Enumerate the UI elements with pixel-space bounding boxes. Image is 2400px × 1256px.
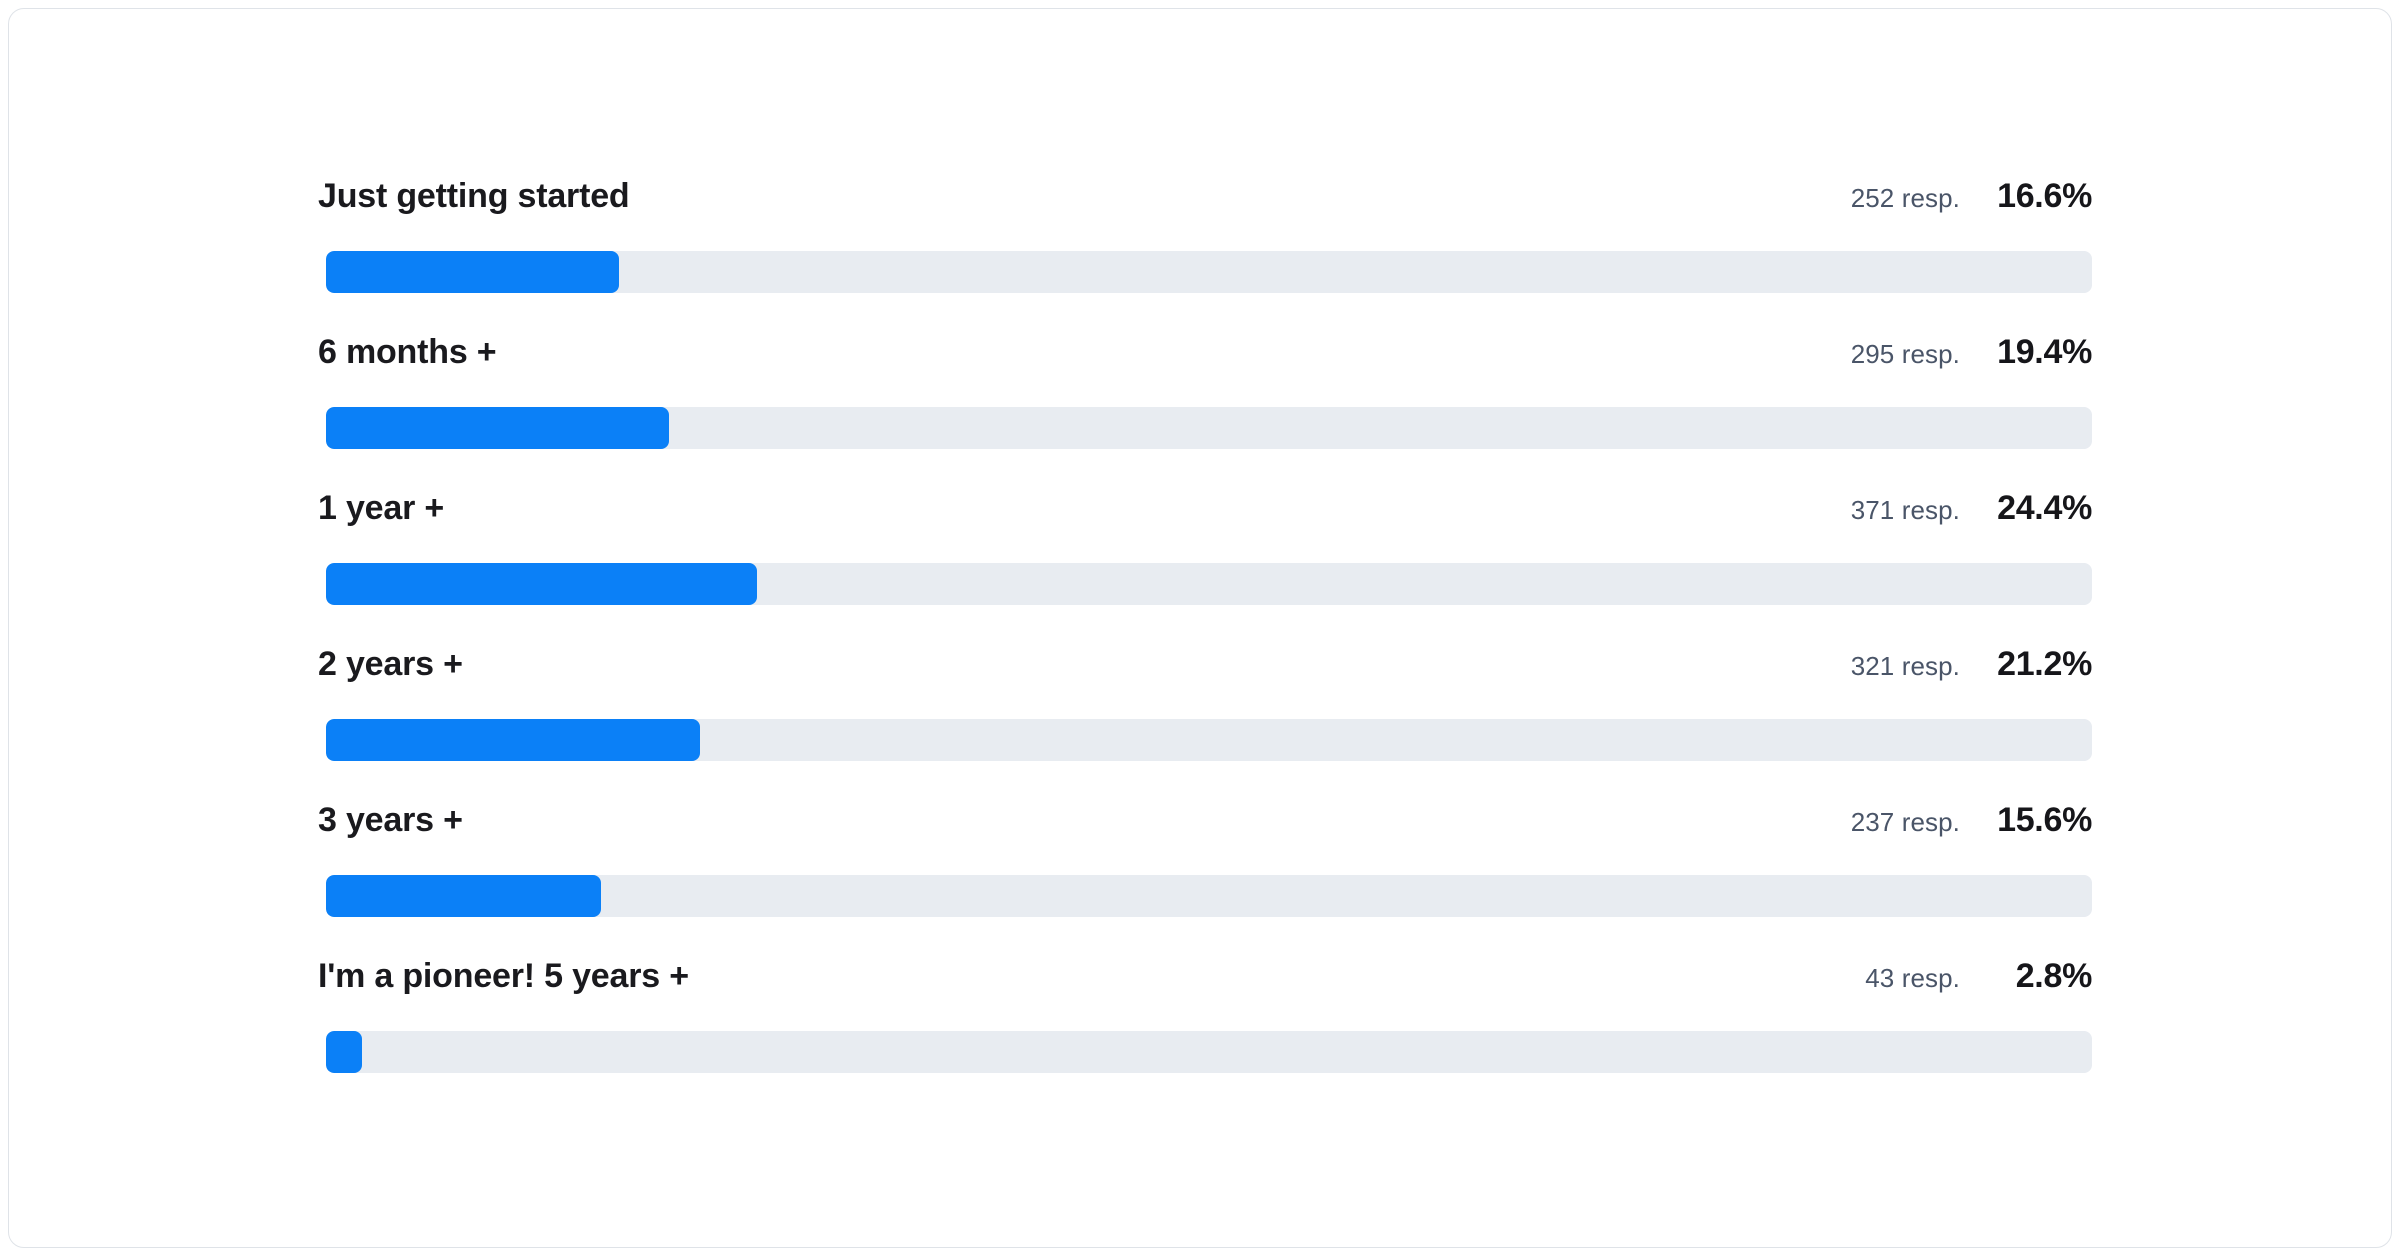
row-response-count: 321 resp.: [1851, 651, 1960, 682]
row-label: 3 years +: [318, 801, 463, 840]
row-label: 6 months +: [318, 333, 496, 372]
chart-row: 3 years + 237 resp. 15.6%: [318, 801, 2092, 957]
row-response-count: 371 resp.: [1851, 495, 1960, 526]
row-header: 6 months + 295 resp. 19.4%: [318, 333, 2092, 379]
bar-fill: [326, 563, 757, 605]
bar-fill: [326, 407, 669, 449]
row-response-count: 237 resp.: [1851, 807, 1960, 838]
row-label: I'm a pioneer! 5 years +: [318, 957, 689, 996]
row-response-count: 43 resp.: [1865, 963, 1960, 994]
bar-track: [326, 1031, 2092, 1073]
row-percentage: 15.6%: [1960, 801, 2092, 840]
row-response-count: 252 resp.: [1851, 183, 1960, 214]
bar-track: [326, 563, 2092, 605]
row-percentage: 2.8%: [1960, 957, 2092, 996]
bar-track: [326, 407, 2092, 449]
bar-fill: [326, 1031, 362, 1073]
row-header: I'm a pioneer! 5 years + 43 resp. 2.8%: [318, 957, 2092, 1003]
row-label: 2 years +: [318, 645, 463, 684]
row-header: 1 year + 371 resp. 24.4%: [318, 489, 2092, 535]
row-stats: 295 resp. 19.4%: [1851, 333, 2092, 372]
bar-track: [326, 875, 2092, 917]
row-label: Just getting started: [318, 177, 629, 216]
bar-chart: Just getting started 252 resp. 16.6% 6 m…: [318, 177, 2092, 1113]
chart-row: 2 years + 321 resp. 21.2%: [318, 645, 2092, 801]
chart-row: 6 months + 295 resp. 19.4%: [318, 333, 2092, 489]
row-percentage: 16.6%: [1960, 177, 2092, 216]
bar-fill: [326, 719, 700, 761]
row-stats: 237 resp. 15.6%: [1851, 801, 2092, 840]
row-stats: 321 resp. 21.2%: [1851, 645, 2092, 684]
row-label: 1 year +: [318, 489, 444, 528]
row-header: Just getting started 252 resp. 16.6%: [318, 177, 2092, 223]
row-percentage: 24.4%: [1960, 489, 2092, 528]
chart-row: I'm a pioneer! 5 years + 43 resp. 2.8%: [318, 957, 2092, 1113]
chart-row: Just getting started 252 resp. 16.6%: [318, 177, 2092, 333]
row-stats: 252 resp. 16.6%: [1851, 177, 2092, 216]
bar-fill: [326, 875, 601, 917]
row-header: 2 years + 321 resp. 21.2%: [318, 645, 2092, 691]
bar-fill: [326, 251, 619, 293]
bar-track: [326, 251, 2092, 293]
results-card: Just getting started 252 resp. 16.6% 6 m…: [8, 8, 2392, 1248]
bar-track: [326, 719, 2092, 761]
row-stats: 43 resp. 2.8%: [1865, 957, 2092, 996]
row-stats: 371 resp. 24.4%: [1851, 489, 2092, 528]
chart-row: 1 year + 371 resp. 24.4%: [318, 489, 2092, 645]
row-header: 3 years + 237 resp. 15.6%: [318, 801, 2092, 847]
row-percentage: 21.2%: [1960, 645, 2092, 684]
row-percentage: 19.4%: [1960, 333, 2092, 372]
row-response-count: 295 resp.: [1851, 339, 1960, 370]
